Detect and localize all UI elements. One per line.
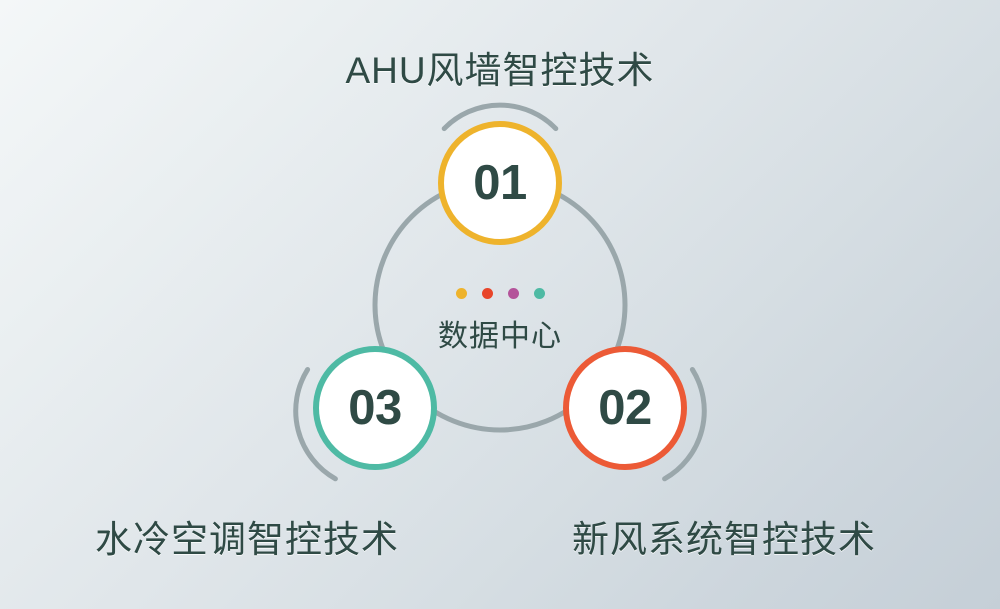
dot-red-icon: [482, 288, 493, 299]
node-number-01: 01: [473, 159, 527, 208]
node-label-02: 新风系统智控技术: [572, 509, 876, 563]
infographic-canvas: 01 02 03 数据中心 AHU风墙智控技术 水冷空调智控技术 新风系统智控技…: [0, 0, 1000, 609]
node-label-03: 水冷空调智控技术: [95, 509, 399, 563]
dot-amber-icon: [456, 288, 467, 299]
dot-magenta-icon: [508, 288, 519, 299]
node-circle-02[interactable]: 02: [563, 346, 687, 470]
node-circle-01[interactable]: 01: [438, 121, 562, 245]
dot-teal-icon: [534, 288, 545, 299]
node-number-03: 03: [348, 384, 402, 433]
node-label-01: AHU风墙智控技术: [0, 40, 1000, 94]
center-cluster: 数据中心: [380, 286, 620, 355]
node-number-02: 02: [598, 384, 652, 433]
center-caption: 数据中心: [380, 311, 620, 355]
center-dot-row: [380, 286, 620, 300]
node-circle-03[interactable]: 03: [313, 346, 437, 470]
